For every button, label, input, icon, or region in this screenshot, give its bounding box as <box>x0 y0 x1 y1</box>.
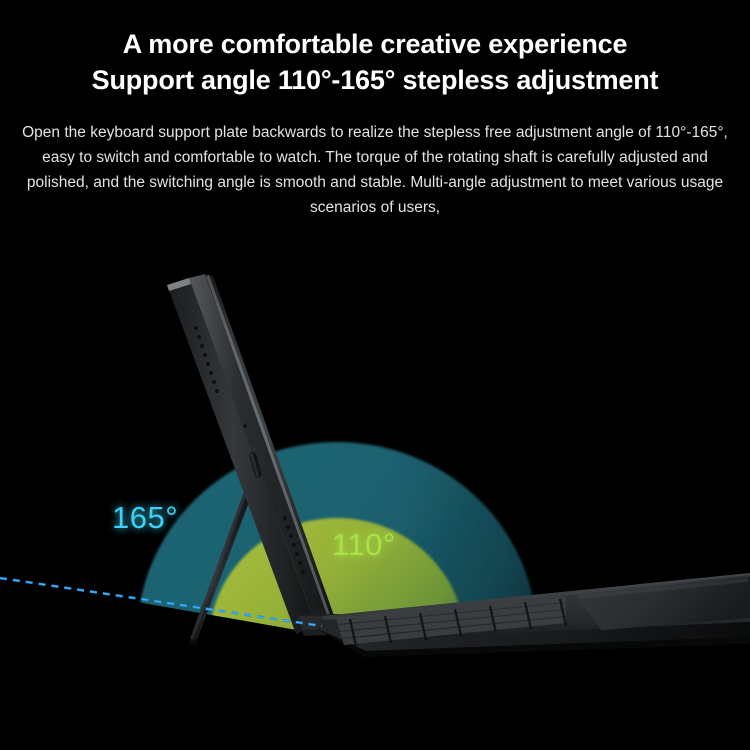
microphone-hole <box>243 424 247 428</box>
device-illustration: 165° 110° <box>0 230 750 750</box>
product-feature-slide: A more comfortable creative experience S… <box>0 0 750 750</box>
page-title-line-2: Support angle 110°-165° stepless adjustm… <box>0 62 750 98</box>
description-paragraph: Open the keyboard support plate backward… <box>22 120 728 220</box>
page-title: A more comfortable creative experience S… <box>0 26 750 98</box>
angle-label-110: 110° <box>332 527 396 562</box>
page-title-line-1: A more comfortable creative experience <box>0 26 750 62</box>
angle-label-165: 165° <box>112 500 178 535</box>
